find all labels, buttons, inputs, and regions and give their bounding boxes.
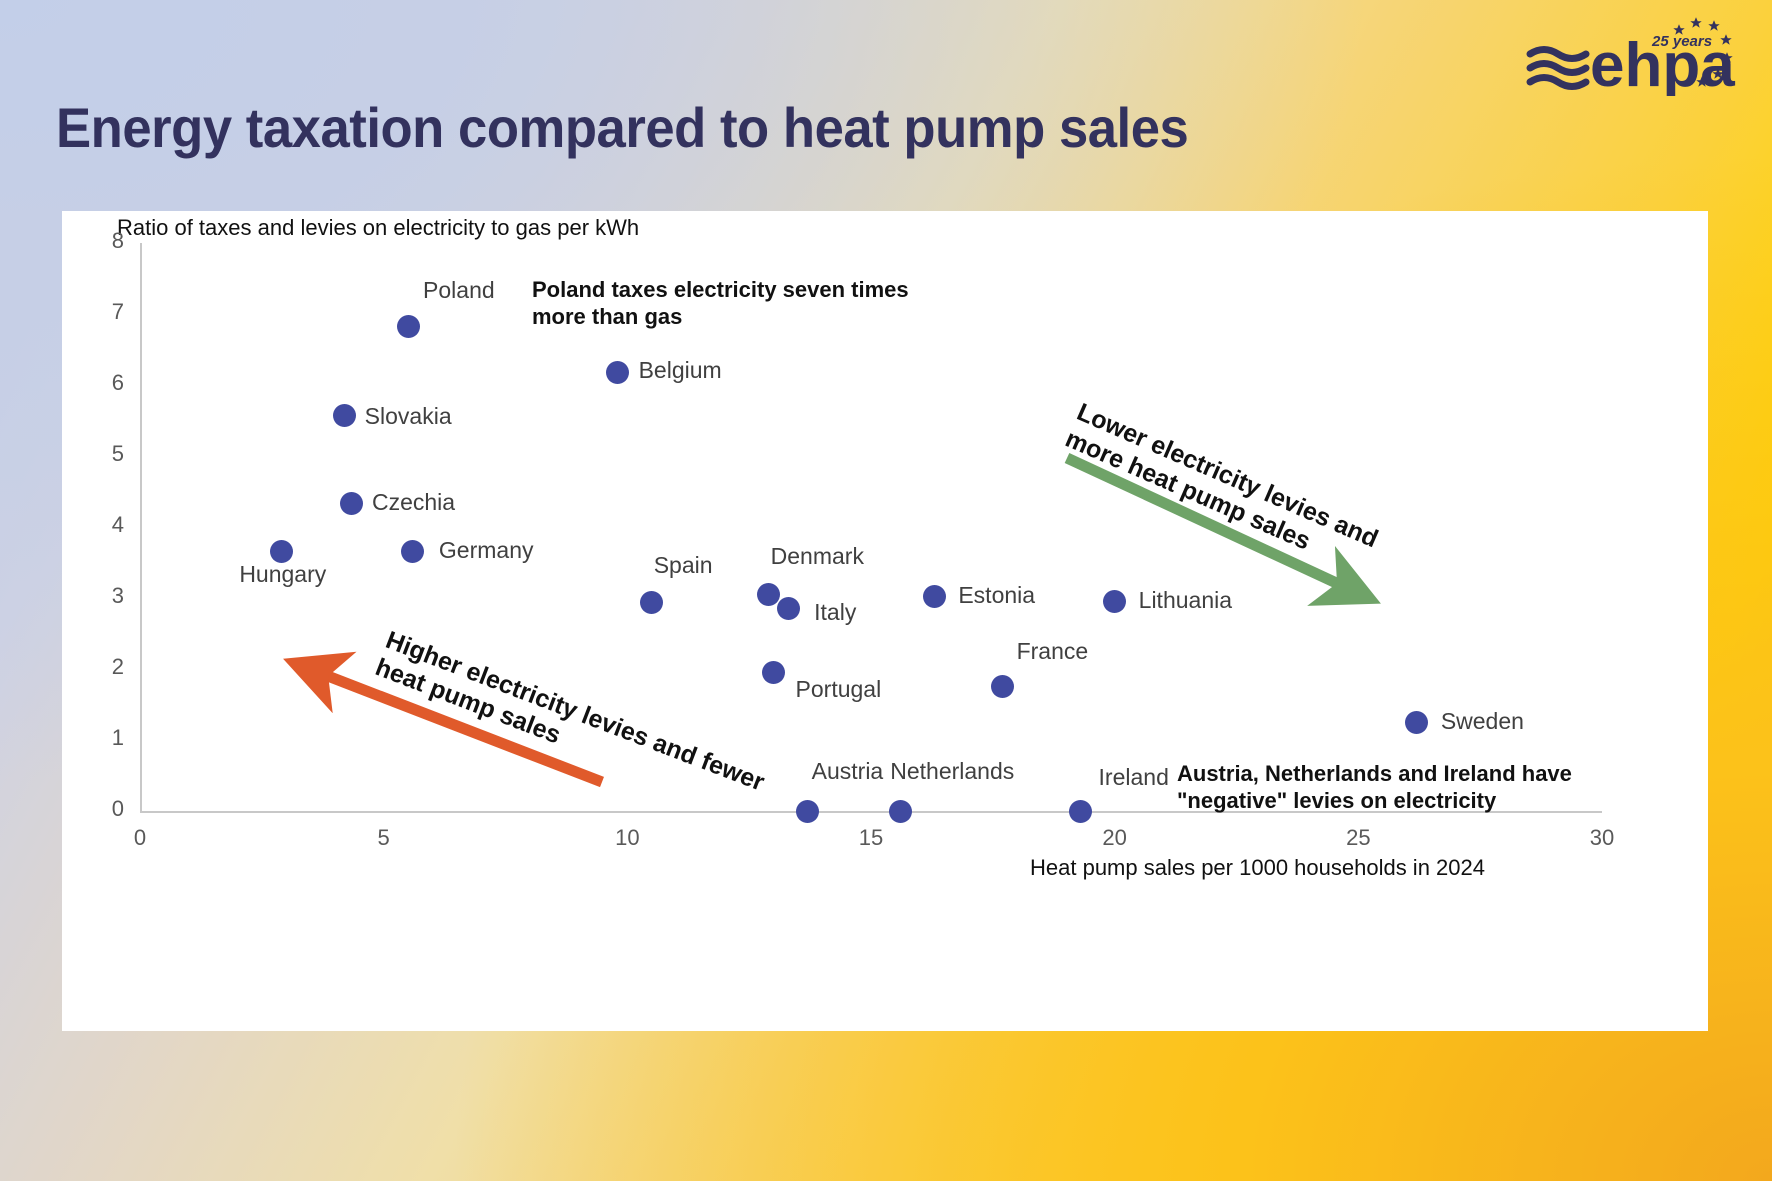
negative-levies-note: Austria, Netherlands and Ireland have "n… [1177, 761, 1572, 815]
wave-icon [1530, 50, 1586, 87]
chart-card: Ratio of taxes and levies on electricity… [62, 211, 1708, 1031]
poland-note: Poland taxes electricity seven times mor… [532, 277, 909, 331]
ehpa-logo: ehpa 25 years [1524, 14, 1744, 96]
green-trend-arrow [62, 211, 1708, 1031]
page-title: Energy taxation compared to heat pump sa… [56, 95, 1188, 160]
scatter-plot: Ratio of taxes and levies on electricity… [62, 211, 1708, 1031]
logo-anniversary: 25 years [1651, 33, 1712, 50]
